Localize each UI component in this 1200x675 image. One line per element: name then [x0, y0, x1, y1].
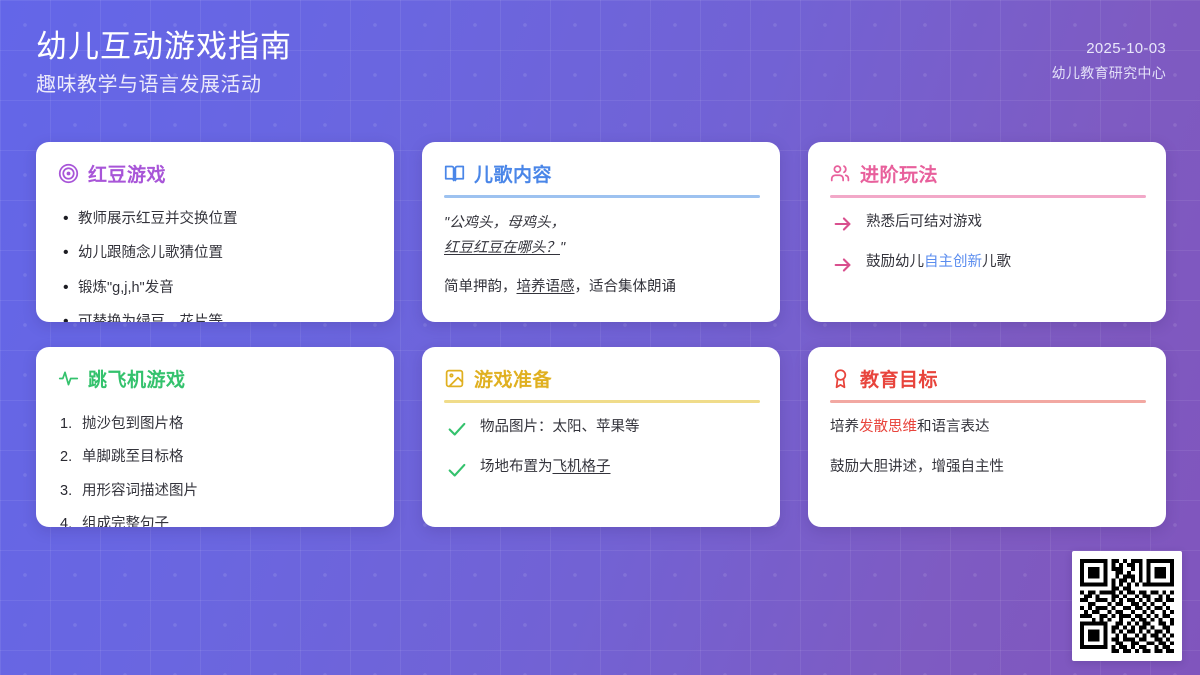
users-icon [830, 163, 851, 184]
arrow-list: 熟悉后可结对游戏 鼓励幼儿自主创新儿歌 [830, 211, 1146, 274]
check-icon [446, 418, 468, 436]
text-suffix: 儿歌 [982, 254, 1011, 270]
numbered-list: 抛沙包到图片格 单脚跳至目标格 用形容词描述图片 组成完整句子 [58, 413, 374, 527]
card-divider [830, 195, 1146, 198]
note-prefix: 简单押韵， [444, 279, 517, 295]
card-body: "公鸡头，母鸡头， 红豆红豆在哪头？" 简单押韵，培养语感，适合集体朗诵 [444, 211, 760, 299]
list-item: 场地布置为飞机格子 [444, 456, 760, 478]
list-item: 幼儿跟随念儿歌猜位置 [58, 242, 374, 264]
header-organization: 幼儿教育研究中心 [1052, 62, 1166, 86]
header-titles: 幼儿互动游戏指南 趣味教学与语言发展活动 [36, 28, 292, 100]
quote-line-1: "公鸡头，母鸡头， [444, 211, 760, 236]
rhyme-note: 简单押韵，培养语感，适合集体朗诵 [444, 276, 760, 298]
list-item-label: 场地布置为飞机格子 [480, 456, 611, 478]
goal-paragraph-1: 培养发散思维和语言表达 [830, 416, 1146, 438]
card-title: 教育目标 [860, 365, 938, 392]
bullet-list: 教师展示红豆并交换位置 幼儿跟随念儿歌猜位置 锻炼"g,j,h"发音 可替换为绿… [58, 208, 374, 322]
card-advanced-play[interactable]: 进阶玩法 熟悉后可结对游戏 鼓励幼儿自主创新儿歌 [808, 142, 1166, 322]
list-item-label: 物品图片：太阳、苹果等 [480, 416, 640, 438]
card-header: 进阶玩法 [830, 160, 1146, 187]
list-item: 组成完整句子 [58, 513, 374, 527]
text-suffix: 和语言表达 [917, 419, 990, 435]
card-header: 游戏准备 [444, 365, 760, 392]
qr-code-image [1080, 559, 1174, 653]
card-header: 教育目标 [830, 365, 1146, 392]
card-body: 教师展示红豆并交换位置 幼儿跟随念儿歌猜位置 锻炼"g,j,h"发音 可替换为绿… [58, 208, 374, 322]
list-item: 熟悉后可结对游戏 [830, 211, 1146, 233]
list-item: 可替换为绿豆、花片等 [58, 311, 374, 322]
card-title: 红豆游戏 [88, 160, 166, 187]
poster-root: 幼儿互动游戏指南 趣味教学与语言发展活动 2025-10-03 幼儿教育研究中心… [0, 0, 1200, 675]
card-divider [444, 195, 760, 198]
card-education-goal[interactable]: 教育目标 培养发散思维和语言表达 鼓励大胆讲述，增强自主性 [808, 347, 1166, 527]
quote-line-2: 红豆红豆在哪头？" [444, 236, 760, 261]
card-nursery-rhyme[interactable]: 儿歌内容 "公鸡头，母鸡头， 红豆红豆在哪头？" 简单押韵，培养语感，适合集体朗… [422, 142, 780, 322]
rhyme-quote: "公鸡头，母鸡头， 红豆红豆在哪头？" [444, 211, 760, 260]
card-divider [830, 400, 1146, 403]
header-date: 2025-10-03 [1052, 36, 1166, 62]
card-body: 物品图片：太阳、苹果等 场地布置为飞机格子 [444, 416, 760, 497]
card-title: 游戏准备 [474, 365, 552, 392]
page-title: 幼儿互动游戏指南 [36, 28, 292, 67]
list-item: 抛沙包到图片格 [58, 413, 374, 435]
card-title: 儿歌内容 [474, 160, 552, 187]
card-body: 熟悉后可结对游戏 鼓励幼儿自主创新儿歌 [830, 211, 1146, 292]
text-prefix: 场地布置为 [480, 459, 553, 475]
text-highlight: 发散思维 [859, 419, 917, 435]
arrow-right-icon [832, 254, 854, 272]
target-icon [58, 163, 79, 184]
note-suffix: ，适合集体朗诵 [575, 279, 677, 295]
award-icon [830, 368, 851, 389]
card-hopscotch-game[interactable]: 跳飞机游戏 抛沙包到图片格 单脚跳至目标格 用形容词描述图片 组成完整句子 [36, 347, 394, 527]
card-game-preparation[interactable]: 游戏准备 物品图片：太阳、苹果等 场地布置为飞机格子 [422, 347, 780, 527]
list-item-label: 熟悉后可结对游戏 [866, 211, 982, 233]
card-header: 红豆游戏 [58, 160, 374, 187]
activity-icon [58, 368, 79, 389]
text-prefix: 培养 [830, 419, 859, 435]
quote-underline: 红豆红豆在哪头？ [444, 240, 560, 256]
text-highlight: 自主创新 [924, 254, 982, 270]
card-header: 儿歌内容 [444, 160, 760, 187]
page-subtitle: 趣味教学与语言发展活动 [36, 70, 292, 100]
goal-paragraph-2: 鼓励大胆讲述，增强自主性 [830, 456, 1146, 478]
book-icon [444, 163, 465, 184]
card-body: 培养发散思维和语言表达 鼓励大胆讲述，增强自主性 [830, 416, 1146, 497]
card-divider [444, 400, 760, 403]
card-title: 跳飞机游戏 [88, 365, 186, 392]
poster-header: 幼儿互动游戏指南 趣味教学与语言发展活动 2025-10-03 幼儿教育研究中心 [0, 0, 1200, 122]
list-item: 单脚跳至目标格 [58, 446, 374, 468]
qr-code[interactable] [1072, 551, 1182, 661]
header-meta: 2025-10-03 幼儿教育研究中心 [1052, 28, 1166, 85]
card-header: 跳飞机游戏 [58, 365, 374, 392]
image-icon [444, 368, 465, 389]
list-item-label: 鼓励幼儿自主创新儿歌 [866, 251, 1011, 273]
check-icon [446, 459, 468, 477]
card-title: 进阶玩法 [860, 160, 938, 187]
card-red-bean-game[interactable]: 红豆游戏 教师展示红豆并交换位置 幼儿跟随念儿歌猜位置 锻炼"g,j,h"发音 … [36, 142, 394, 322]
arrow-right-icon [832, 213, 854, 231]
card-body: 抛沙包到图片格 单脚跳至目标格 用形容词描述图片 组成完整句子 [58, 413, 374, 527]
check-list: 物品图片：太阳、苹果等 场地布置为飞机格子 [444, 416, 760, 479]
list-item: 物品图片：太阳、苹果等 [444, 416, 760, 438]
list-item: 教师展示红豆并交换位置 [58, 208, 374, 230]
card-grid: 红豆游戏 教师展示红豆并交换位置 幼儿跟随念儿歌猜位置 锻炼"g,j,h"发音 … [36, 142, 1166, 527]
list-item: 用形容词描述图片 [58, 480, 374, 502]
note-underline: 培养语感 [517, 279, 575, 295]
text-underline: 飞机格子 [553, 459, 611, 475]
list-item: 鼓励幼儿自主创新儿歌 [830, 251, 1146, 273]
text-prefix: 鼓励幼儿 [866, 254, 924, 270]
list-item: 锻炼"g,j,h"发音 [58, 277, 374, 299]
